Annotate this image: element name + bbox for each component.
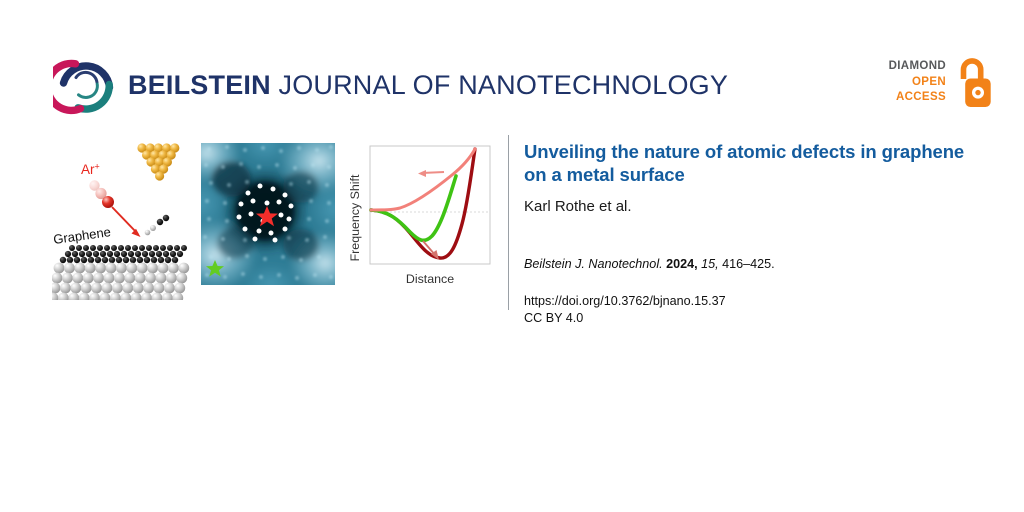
oa-line-diamond: DIAMOND [862, 59, 946, 75]
oa-line-access: ACCESS [862, 90, 946, 106]
open-access-unlocked-padlock-icon [952, 57, 992, 109]
journal-title-light: JOURNAL OF NANOTECHNOLOGY [271, 70, 728, 100]
citation-year: 2024, [666, 257, 698, 271]
graphical-abstract-page: BEILSTEIN JOURNAL OF NANOTECHNOLOGY DIAM… [0, 0, 1024, 512]
citation-pages: 416–425. [722, 257, 775, 271]
ejected-carbon-atoms [145, 215, 170, 235]
journal-title-bold: BEILSTEIN [128, 70, 271, 100]
article-citation: Beilstein J. Nanotechnol. 2024, 15, 416–… [524, 256, 974, 273]
graphical-abstract: Ar+ Graphene [0, 130, 512, 320]
graphene-sheet [60, 245, 187, 263]
argon-ion-trail [89, 180, 114, 208]
stm-topography-moire-image [201, 143, 335, 285]
journal-header: BEILSTEIN JOURNAL OF NANOTECHNOLOGY DIAM… [0, 0, 1024, 130]
article-info: Unveiling the nature of atomic defects i… [524, 140, 974, 327]
journal-title: BEILSTEIN JOURNAL OF NANOTECHNOLOGY [128, 70, 728, 101]
article-title[interactable]: Unveiling the nature of atomic defects i… [524, 140, 974, 186]
article-doi-link[interactable]: https://doi.org/10.3762/bjnano.15.37 [524, 293, 974, 310]
graphene-on-metal-irradiation-schematic: Ar+ Graphene [52, 140, 200, 300]
plot-xlabel: Distance [406, 272, 454, 286]
frequency-shift-vs-distance-plot: Frequency Shift [344, 140, 496, 292]
graphene-label: Graphene [52, 224, 111, 247]
article-license: CC BY 4.0 [524, 310, 974, 327]
diamond-open-access-badge: DIAMOND OPEN ACCESS [862, 57, 990, 119]
argon-ion-label: Ar+ [81, 162, 100, 178]
vertical-divider [508, 135, 509, 310]
open-access-wordmark: DIAMOND OPEN ACCESS [862, 59, 946, 106]
citation-journal: Beilstein J. Nanotechnol. [524, 257, 663, 271]
citation-volume: 15, [701, 257, 719, 271]
metal-substrate [52, 263, 189, 300]
plot-ylabel: Frequency Shift [348, 174, 362, 261]
gold-cluster-icon [137, 143, 179, 180]
beilstein-spiral-logo-icon [53, 53, 119, 119]
ion-impact-arrow [112, 207, 141, 237]
article-authors: Karl Rothe et al. [524, 197, 974, 216]
oa-line-open: OPEN [862, 75, 946, 91]
